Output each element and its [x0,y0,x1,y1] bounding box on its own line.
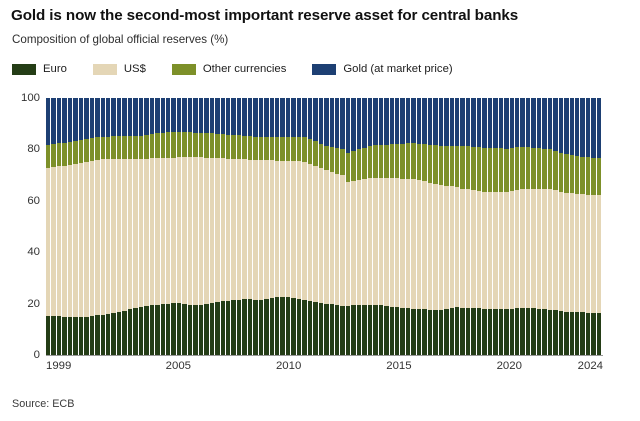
bar-segment-euro [302,300,306,355]
bar-segment-gold [580,98,584,157]
bar-segment-other [439,146,443,185]
bar-segment-euro [171,303,175,355]
bar-segment-euro [62,317,66,355]
bar-segment-euro [308,301,312,355]
bar-segment-usd [520,189,524,308]
bar-segment-usd [199,157,203,304]
bar-segment-usd [226,159,230,301]
y-tick-label-80: 80 [0,143,40,155]
bar-segment-usd [433,184,437,310]
bar-segment-euro [450,308,454,355]
bar-segment-euro [139,307,143,355]
bar-segment-usd [406,179,410,309]
bar-segment-usd [450,186,454,308]
bar-segment-gold [373,98,377,145]
bar-segment-other [177,132,181,157]
bar-segment-other [335,148,339,173]
bar-segment-other [351,151,355,181]
bar-segment-other [340,149,344,175]
bar-segment-gold [182,98,186,132]
bar-segment-euro [346,306,350,355]
bar-segment-other [586,157,590,194]
bar-segment-gold [428,98,432,145]
bar-segment-other [422,144,426,181]
bar-segment-usd [101,159,105,314]
bar-segment-gold [455,98,459,146]
bar-segment-other [406,143,410,179]
bar-segment-usd [193,157,197,305]
bar-segment-euro [570,312,574,355]
bar-segment-usd [351,181,355,305]
bar-segment-euro [221,301,225,355]
bar-segment-gold [526,98,530,147]
bar-segment-gold [117,98,121,136]
bar-segment-gold [308,98,312,139]
bar-segment-usd [242,159,246,299]
bar-segment-gold [439,98,443,146]
x-tick-label-2010: 2010 [276,360,301,372]
bar-segment-usd [400,179,404,308]
bar-segment-other [395,144,399,179]
bar-segment-usd [428,183,432,310]
bar-segment-other [531,148,535,189]
bar-segment-euro [553,310,557,355]
bar-segment-usd [357,180,361,305]
plot-area [46,98,603,355]
bar-segment-gold [286,98,290,137]
bar-segment-usd [84,162,88,317]
bar-segment-euro [417,309,421,355]
bar-segment-euro [395,307,399,355]
legend-swatch-other-icon [172,64,196,75]
bar-segment-usd [526,189,530,308]
bar-segment-usd [553,190,557,310]
bar-segment-other [400,144,404,179]
bar-segment-gold [302,98,306,137]
bar-segment-other [171,132,175,158]
bar-segment-gold [291,98,295,137]
bar-segment-other [433,145,437,184]
bar-segment-other [275,137,279,160]
bar-segment-usd [346,182,350,305]
bar-segment-gold [564,98,568,154]
bar-segment-euro [253,300,257,356]
bar-segment-usd [128,159,132,309]
bar-segment-usd [482,192,486,309]
bar-segment-usd [564,193,568,312]
bar-segment-other [199,133,203,157]
bar-segment-gold [73,98,77,141]
bar-segment-gold [346,98,350,152]
bar-segment-euro [264,299,268,355]
bar-segment-gold [384,98,388,145]
bar-segment-euro [90,316,94,355]
bar-segment-gold [231,98,235,135]
bar-segment-other [510,148,514,191]
bar-segment-usd [302,162,306,301]
bar-segment-usd [504,192,508,309]
bar-segment-euro [297,299,301,355]
legend-item-gold[interactable]: Gold (at market price) [312,63,452,75]
bar-segment-other [280,137,284,161]
bar-segment-usd [57,166,61,316]
bar-segment-euro [226,301,230,355]
bar-segment-other [122,136,126,159]
bar-segment-euro [433,310,437,355]
bar-segment-euro [439,310,443,355]
bar-segment-euro [51,316,55,355]
bar-segment-usd [204,158,208,304]
bar-segment-other [559,153,563,192]
legend-item-euro[interactable]: Euro [12,63,67,75]
bar-segment-usd [460,189,464,308]
bar-segment-usd [384,178,388,306]
bar-segment-gold [144,98,148,135]
bar-segment-other [466,146,470,189]
bar-segment-usd [210,158,214,303]
bar-segment-gold [417,98,421,143]
bar-segment-gold [221,98,225,134]
bar-segment-usd [46,168,50,316]
bar-segment-gold [280,98,284,137]
legend-label-euro: Euro [43,63,67,75]
bar-segment-euro [526,308,530,355]
bar-segment-usd [575,194,579,312]
x-tick-label-1999: 1999 [46,360,71,372]
chart-legend: EuroUS$Other currenciesGold (at market p… [12,60,479,78]
bar-segment-usd [73,164,77,317]
bar-segment-gold [150,98,154,134]
bar-segment-gold [90,98,94,138]
bar-segment-other [248,136,252,159]
bar-segment-euro [390,307,394,355]
bar-segment-other [346,153,350,183]
bar-segment-euro [515,308,519,355]
bar-segment-euro [575,312,579,355]
x-tick-label-2024: 2024 [578,360,603,372]
bar-segment-gold [379,98,383,145]
bar-segment-gold [57,98,61,143]
y-tick-label-60: 60 [0,195,40,207]
bar-segment-gold [270,98,274,137]
bar-segment-usd [477,191,481,308]
bar-segment-euro [384,306,388,355]
bar-segment-euro [373,305,377,355]
bar-segment-other [520,147,524,189]
bar-segment-gold [166,98,170,132]
bar-segment-euro [586,313,590,355]
bar-segment-gold [357,98,361,149]
bar-segment-gold [319,98,323,144]
bar-segment-other [57,143,61,166]
bar-segment-other [542,149,546,189]
bar-segment-other [526,147,530,189]
bar-segment-euro [362,305,366,355]
bar-segment-other [417,144,421,181]
bar-segment-gold [575,98,579,156]
bar-segment-gold [466,98,470,146]
bar-segment-usd [51,167,55,316]
bar-segment-other [570,155,574,193]
bar-segment-gold [537,98,541,148]
bar-segment-gold [188,98,192,132]
bar-segment-usd [150,158,154,305]
bar-segment-euro [357,305,361,355]
bar-segment-gold [597,98,601,158]
bar-segment-other [591,158,595,195]
x-axis-line [46,355,603,356]
bar-segment-euro [215,302,219,355]
bar-segment-gold [390,98,394,144]
bar-segment-other [564,154,568,192]
bar-segment-other [493,148,497,192]
bar-segment-usd [90,161,94,316]
bar-segment-euro [166,304,170,355]
bar-segment-gold [106,98,110,137]
bar-segment-euro [548,310,552,355]
bar-segment-other [548,149,552,189]
bar-segment-other [226,135,230,159]
bar-segment-other [330,147,334,172]
bar-segment-euro [248,299,252,355]
bar-segment-gold [591,98,595,158]
bar-segment-gold [204,98,208,133]
bar-segment-gold [482,98,486,148]
bar-segment-gold [570,98,574,155]
bar-segment-usd [313,166,317,302]
bar-segment-euro [242,299,246,355]
bar-segment-usd [591,195,595,313]
bar-segment-other [515,147,519,190]
bar-segment-usd [330,172,334,304]
bar-segment-gold [111,98,115,136]
bar-segment-usd [537,189,541,309]
bar-segment-gold [460,98,464,146]
bar-segment-euro [73,317,77,355]
bar-segment-gold [122,98,126,136]
bar-segment-gold [400,98,404,143]
bar-segment-other [482,148,486,192]
bar-segment-gold [226,98,230,134]
bar-segment-gold [95,98,99,137]
bar-segment-usd [439,185,443,310]
bar-segment-usd [286,161,290,297]
bar-segment-euro [406,308,410,355]
bar-segment-gold [340,98,344,149]
bar-segment-other [537,148,541,189]
bar-segment-usd [215,158,219,302]
bar-segment-other [384,145,388,179]
bar-segment-other [553,151,557,190]
bar-segment-euro [193,305,197,355]
bar-segment-usd [133,159,137,308]
bar-segment-euro [204,304,208,355]
bar-segment-other [215,134,219,158]
bar-segment-gold [313,98,317,141]
bar-segment-other [221,134,225,158]
bar-segment-euro [237,300,241,356]
x-axis: 199920052010201520202024 [46,360,603,378]
bar-segment-euro [270,298,274,355]
bar-segment-euro [275,297,279,355]
bar-segment-other [150,134,154,158]
x-tick-label-2020: 2020 [497,360,522,372]
bar-segment-gold [471,98,475,147]
bar-segment-other [73,141,77,164]
bar-segment-other [117,136,121,159]
bar-segment-other [166,132,170,158]
legend-item-usd[interactable]: US$ [93,63,146,75]
bar-segment-euro [111,313,115,355]
bar-segment-usd [253,160,257,300]
bar-segment-other [450,146,454,187]
bar-segment-usd [231,159,235,300]
bar-segment-euro [455,307,459,355]
bar-segment-other [286,137,290,161]
x-tick-label-2005: 2005 [166,360,191,372]
bar-segment-euro [106,314,110,355]
bar-segment-usd [324,170,328,303]
bar-segment-other [362,148,366,180]
bar-segment-euro [537,309,541,355]
bar-segment-other [133,136,137,159]
bar-segment-other [155,133,159,158]
bar-segment-gold [548,98,552,149]
bar-segment-gold [51,98,55,144]
bar-segment-euro [466,308,470,355]
bar-segment-usd [455,187,459,307]
bar-segment-usd [275,161,279,297]
bar-segment-usd [308,164,312,301]
bar-segment-other [308,139,312,164]
bar-segment-usd [166,158,170,304]
legend-swatch-euro-icon [12,64,36,75]
y-tick-label-0: 0 [0,349,40,361]
bar-segment-gold [450,98,454,146]
bar-segment-usd [390,178,394,307]
bar-segment-euro [84,317,88,355]
bar-segment-usd [122,159,126,310]
bar-segment-usd [68,165,72,317]
bar-segment-gold [444,98,448,146]
bar-segment-gold [330,98,334,147]
bar-segment-other [101,137,105,160]
bar-segment-euro [79,317,83,355]
bar-segment-usd [144,159,148,307]
bar-segment-other [444,146,448,186]
bar-segment-gold [395,98,399,144]
bar-segment-usd [177,157,181,303]
bar-segment-usd [248,160,252,299]
bar-segment-gold [62,98,66,143]
bar-segment-usd [139,159,143,307]
bar-segment-euro [460,308,464,355]
bar-segment-gold [351,98,355,151]
bar-segment-euro [259,300,263,355]
bar-segment-usd [117,159,121,312]
bar-segment-gold [133,98,137,136]
bar-segment-other [264,137,268,160]
bar-segment-gold [504,98,508,149]
bar-segment-euro [68,317,72,355]
bar-segment-other [428,145,432,183]
bar-segment-other [111,136,115,159]
y-tick-label-100: 100 [0,92,40,104]
bar-segment-usd [422,181,426,309]
bar-segment-euro [150,305,154,355]
bar-segment-euro [57,316,61,355]
legend-label-gold: Gold (at market price) [343,63,452,75]
bar-segment-euro [411,309,415,355]
bar-segment-gold [79,98,83,140]
bar-segment-euro [471,308,475,355]
bar-segment-other [373,145,377,178]
bar-segment-other [144,135,148,159]
bar-segment-gold [155,98,159,133]
bar-segment-other [455,146,459,188]
bar-segment-gold [171,98,175,132]
bar-segment-euro [161,304,165,355]
bar-segment-other [324,146,328,171]
bar-segment-euro [280,297,284,355]
bar-segment-euro [542,309,546,355]
bar-segment-gold [368,98,372,146]
bar-segment-usd [106,159,110,314]
bar-segment-other [231,135,235,159]
bar-segment-euro [101,315,105,355]
bar-segment-usd [510,191,514,308]
bar-segment-euro [499,309,503,355]
bar-segment-euro [182,304,186,355]
bar-segment-other [68,142,72,165]
bar-segment-gold [362,98,366,148]
bar-segment-gold [542,98,546,149]
bar-segment-gold [586,98,590,157]
bar-segment-gold [559,98,563,153]
bar-segment-euro [379,305,383,355]
y-tick-label-40: 40 [0,246,40,258]
bar-segment-usd [411,179,415,308]
bar-segment-euro [591,313,595,355]
chart-title: Gold is now the second-most important re… [11,7,631,24]
bar-segment-gold [177,98,181,132]
bar-segment-gold [161,98,165,133]
bar-segment-euro [313,302,317,355]
bar-segment-gold [139,98,143,136]
bar-segment-gold [248,98,252,136]
bar-segment-gold [264,98,268,137]
stacked-bars [46,98,603,355]
bar-segment-other [297,137,301,161]
bar-segment-usd [171,158,175,303]
bar-segment-euro [335,305,339,355]
bar-segment-other [188,132,192,157]
bar-segment-euro [428,310,432,355]
bar-segment-other [161,133,165,158]
bar-segment-usd [291,161,295,298]
y-axis: 020406080100 [0,98,40,355]
legend-item-other[interactable]: Other currencies [172,63,287,75]
bar-segment-gold [297,98,301,137]
bar-segment-gold [499,98,503,148]
bar-segment-other [390,144,394,178]
bar-segment-other [210,133,214,157]
bar-segment-usd [499,192,503,309]
bar-segment-usd [335,174,339,305]
bar-segment-gold [275,98,279,137]
bar-segment-gold [68,98,72,142]
bar-segment-euro [340,306,344,355]
